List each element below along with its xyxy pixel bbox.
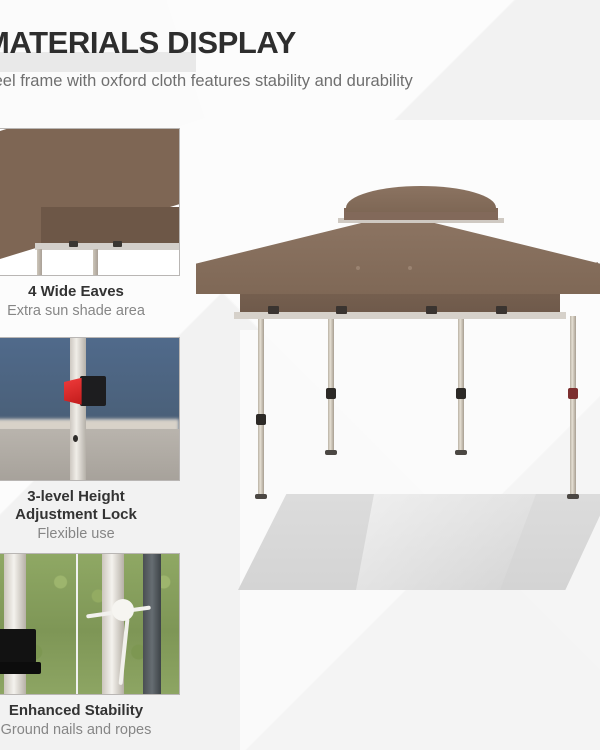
feature-subtitle-enhanced-stability: Ground nails and ropes [0, 722, 180, 739]
feature-card-height-lock: 3-level Height Adjustment Lock Flexible … [0, 337, 180, 543]
gazebo-foot [255, 494, 267, 499]
canopy-bracket [426, 306, 437, 314]
canopy-top-vent [346, 186, 496, 212]
product-illustration-gazebo [196, 176, 600, 596]
feature-title-height-lock-line2: Adjustment Lock [0, 506, 180, 524]
feature-title-height-lock-line1: 3-level Height [0, 488, 180, 506]
lock-red-lever-icon [64, 378, 82, 405]
leg-pole-dark [143, 554, 161, 694]
foot-base-plate [0, 662, 41, 674]
canopy-bracket [496, 306, 507, 314]
canopy-main-roof [196, 214, 600, 294]
height-lock-clip [256, 414, 266, 425]
eave-bracket-icon [69, 241, 78, 247]
ground-nail-foot-plate [0, 629, 36, 663]
canopy-frame-rail [234, 312, 566, 319]
eave-leg [93, 249, 98, 276]
feature-title-enhanced-stability: Enhanced Stability [0, 702, 180, 720]
feature-card-wide-eaves: 4 Wide Eaves Extra sun shade area [0, 128, 180, 320]
feature-subtitle-height-lock: Flexible use [0, 526, 180, 543]
gazebo-foot [325, 450, 337, 455]
eave-skirt [41, 207, 180, 245]
feature-image-wide-eaves [0, 128, 180, 276]
gazebo-leg-back-right [458, 316, 464, 452]
canopy-bracket [336, 306, 347, 314]
pole-adjustment-hole [73, 435, 78, 442]
feature-card-enhanced-stability: Enhanced Stability Ground nails and rope… [0, 553, 180, 739]
page-title: MATERIALS DISPLAY [0, 25, 296, 61]
gazebo-leg-front-left [258, 316, 264, 496]
gazebo-foot [567, 494, 579, 499]
leg-pole [70, 338, 86, 480]
height-lock-clip [326, 388, 336, 399]
eave-bracket-icon [113, 241, 122, 247]
height-lock-clip [568, 388, 578, 399]
page-subtitle: Steel frame with oxford cloth features s… [0, 72, 413, 91]
gazebo-foot [455, 450, 467, 455]
stability-photo-rope [76, 554, 179, 694]
canopy-bracket [268, 306, 279, 314]
feature-title-wide-eaves: 4 Wide Eaves [0, 283, 180, 301]
eave-canopy-shape [0, 128, 180, 276]
stability-photo-ground-nail [0, 554, 76, 694]
canopy-vent-dot [408, 266, 412, 270]
gazebo-leg-back-left [328, 316, 334, 452]
height-lock-clip [456, 388, 466, 399]
lock-housing-icon [80, 376, 106, 406]
feature-image-enhanced-stability [0, 553, 180, 695]
eave-frame-rail [35, 243, 180, 250]
rope-knot [112, 599, 134, 621]
photo-ground [0, 429, 179, 480]
gazebo-leg-front-right [570, 316, 576, 496]
feature-subtitle-wide-eaves: Extra sun shade area [0, 303, 180, 320]
canopy-vent-dot [356, 266, 360, 270]
eave-leg [37, 249, 42, 276]
infographic-page: MATERIALS DISPLAY Steel frame with oxfor… [0, 0, 600, 750]
feature-image-height-lock [0, 337, 180, 481]
